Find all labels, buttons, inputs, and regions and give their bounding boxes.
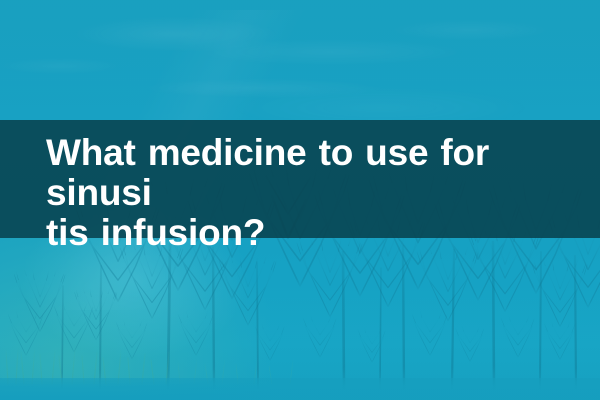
headline-band-inner: What medicine to use for sinusi tis infu… [0,120,600,253]
headline-band: What medicine to use for sinusi tis infu… [0,120,600,238]
image-card: What medicine to use for sinusi tis infu… [0,0,600,400]
headline-text: What medicine to use for sinusi tis infu… [46,133,592,253]
